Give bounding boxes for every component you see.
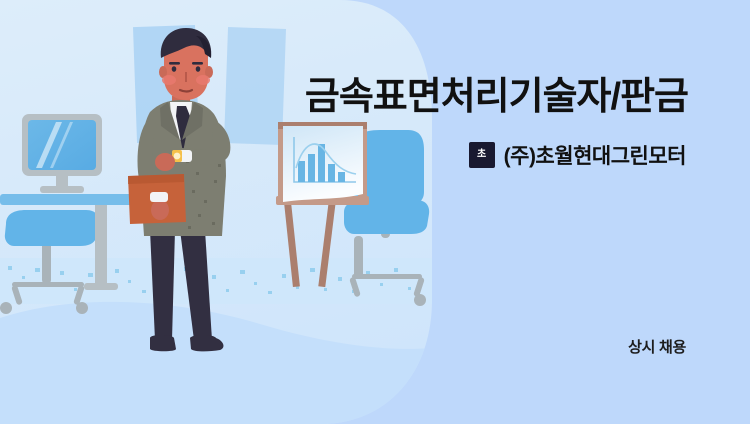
cheek-left bbox=[162, 75, 176, 85]
hiring-type-label: 상시 채용 bbox=[628, 336, 686, 357]
desk-foot bbox=[84, 283, 118, 290]
chart-bar bbox=[308, 154, 315, 182]
shoe-left bbox=[150, 335, 176, 351]
eye-left bbox=[172, 66, 177, 72]
illustration bbox=[0, 0, 432, 424]
hand-left bbox=[151, 200, 169, 220]
job-title: 금속표면처리기술자/판금 bbox=[236, 74, 688, 120]
eyebrow-left bbox=[169, 62, 180, 65]
office-scene-illustration bbox=[0, 0, 432, 424]
company-name: (주)초월현대그린모터 bbox=[504, 140, 686, 170]
monitor-base bbox=[40, 186, 84, 193]
eyebrow-right bbox=[192, 62, 203, 65]
cheek-right bbox=[196, 75, 210, 85]
desk-leg bbox=[95, 205, 107, 285]
company-row[interactable]: 초 (주)초월현대그린모터 bbox=[469, 140, 686, 170]
eye-right bbox=[196, 66, 201, 72]
floor-band bbox=[0, 258, 432, 304]
job-posting-banner: 금속표면처리기술자/판금 초 (주)초월현대그린모터 상시 채용 bbox=[0, 0, 750, 424]
cuff-left bbox=[150, 192, 168, 202]
chart-bar bbox=[338, 172, 345, 182]
hand-right bbox=[155, 153, 175, 171]
chart-bar bbox=[328, 164, 335, 182]
company-logo-badge: 초 bbox=[469, 142, 495, 168]
chart-bar bbox=[298, 161, 305, 182]
